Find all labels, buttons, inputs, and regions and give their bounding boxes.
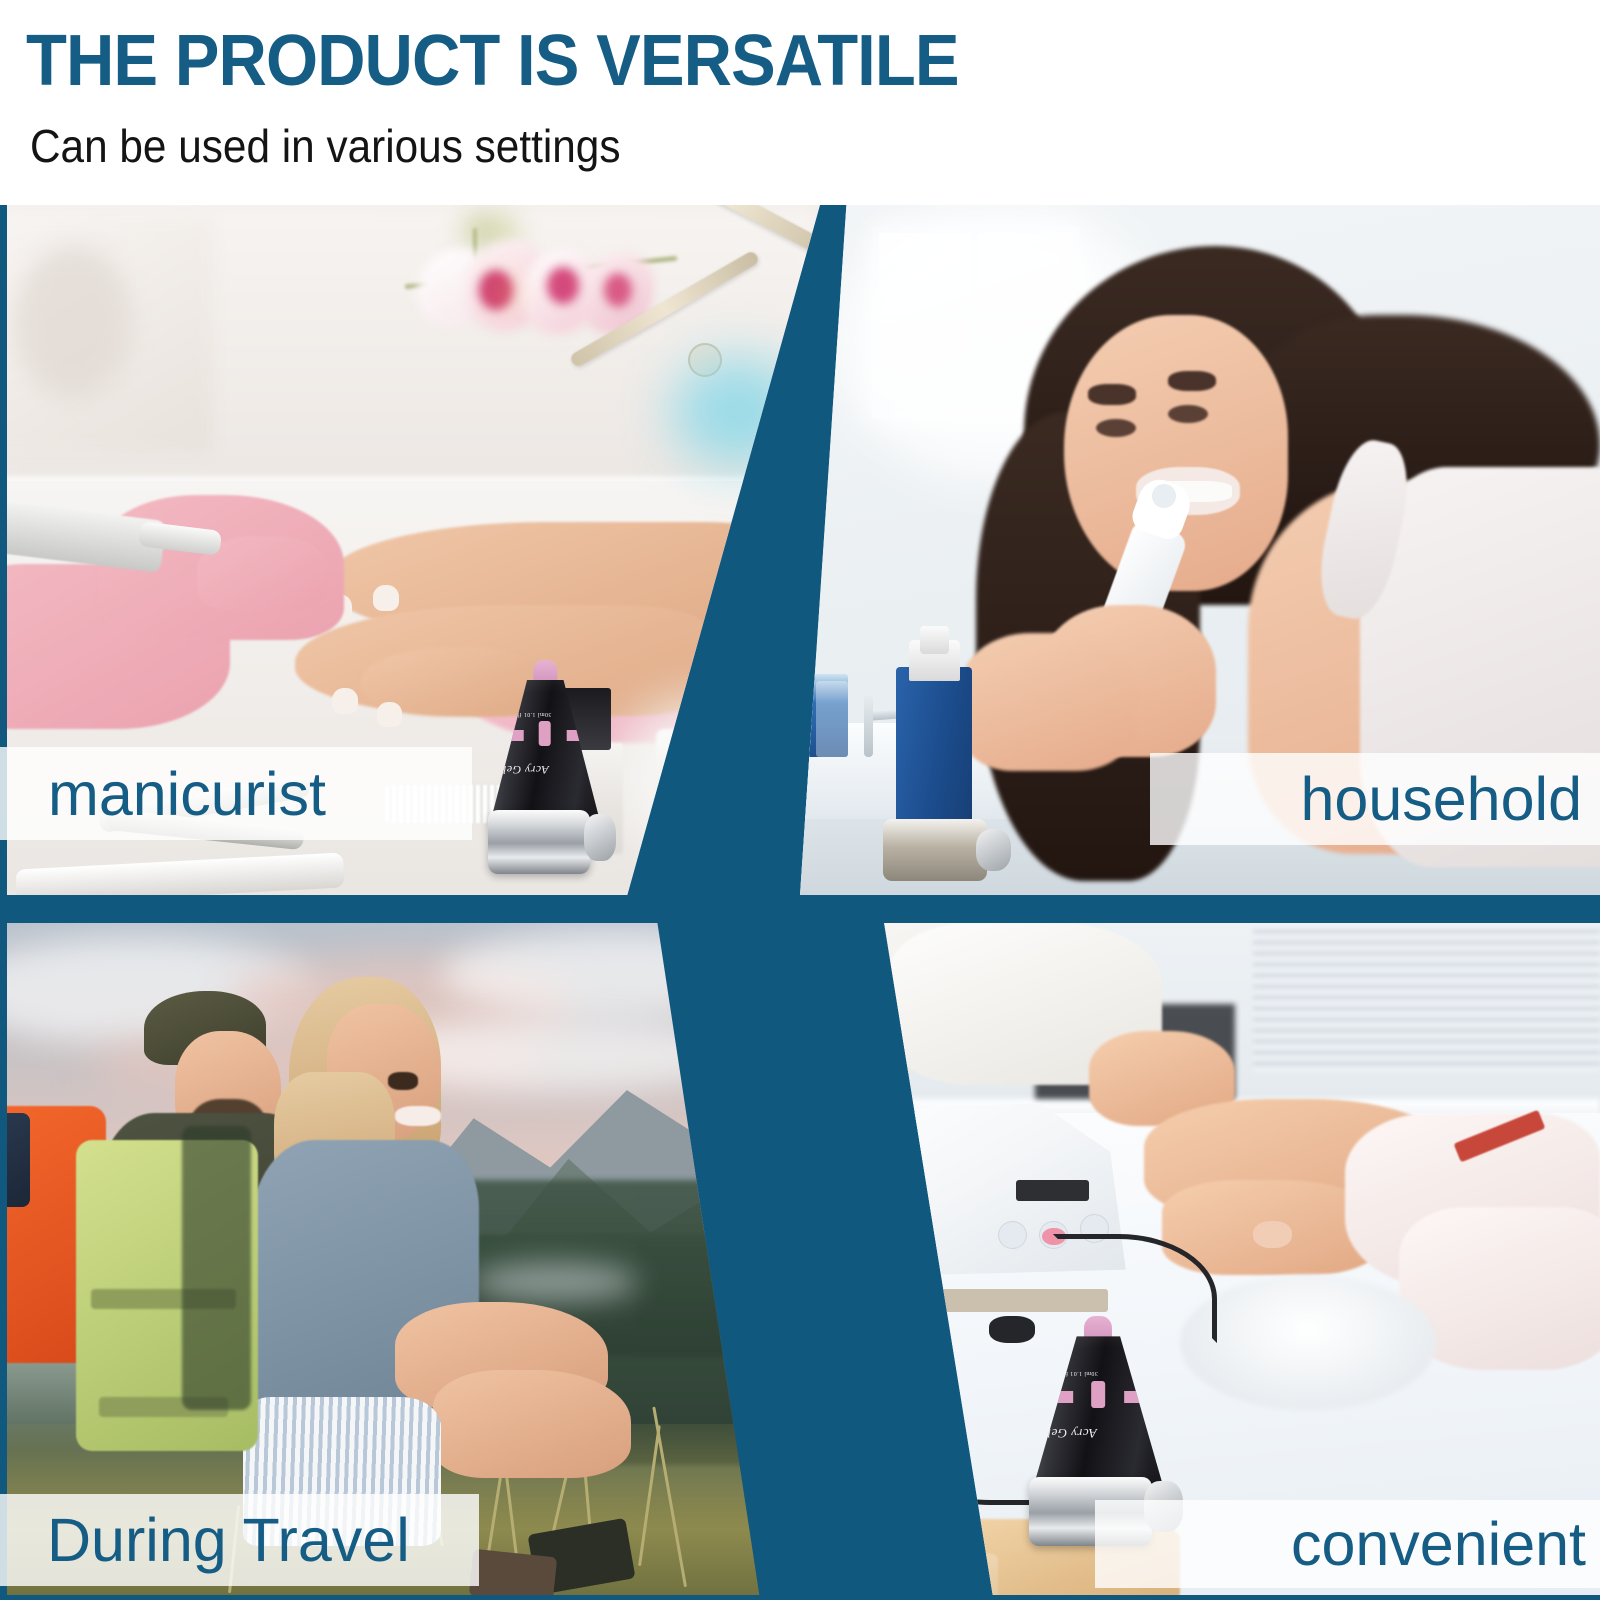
label-household: household [1150,753,1600,845]
page-title: THE PRODUCT IS VERSATILE [26,22,959,100]
product-tube-manicurist: 30ml 1.01 fl.oz Acry Gel Misschanning [492,660,599,874]
product-squeezer-knob [584,814,616,861]
product-volume: 30ml 1.01 fl.oz [509,711,552,717]
product-descriptor: Acry Gel [503,762,549,777]
orchid-decor [385,219,697,371]
toothpaste-tube [896,667,972,833]
bottom-edge-rail [0,1595,1600,1600]
quadrant-grid: 30ml 1.01 fl.oz Acry Gel Misschanning [0,205,1600,1600]
page-subtitle: Can be used in various settings [30,118,620,174]
infographic-poster: THE PRODUCT IS VERSATILE Can be used in … [0,0,1600,1600]
header: THE PRODUCT IS VERSATILE Can be used in … [0,0,1600,205]
quadrant-convenient: 30ml 1.01 fl.oz Acry Gel Misschanning [688,923,1600,1600]
label-convenient: convenient [1095,1500,1600,1588]
toothpaste-squeezer [883,819,987,881]
product-volume: 30ml 1.01 fl.oz [1055,1370,1098,1376]
label-during-travel: During Travel [0,1494,479,1586]
product-descriptor: Acry Gel [1047,1425,1097,1441]
left-edge-rail [0,205,7,1600]
scene-nail-desk: 30ml 1.01 fl.oz Acry Gel Misschanning [688,923,1600,1600]
label-manicurist: manicurist [0,747,472,840]
product-squeezer [488,810,590,874]
